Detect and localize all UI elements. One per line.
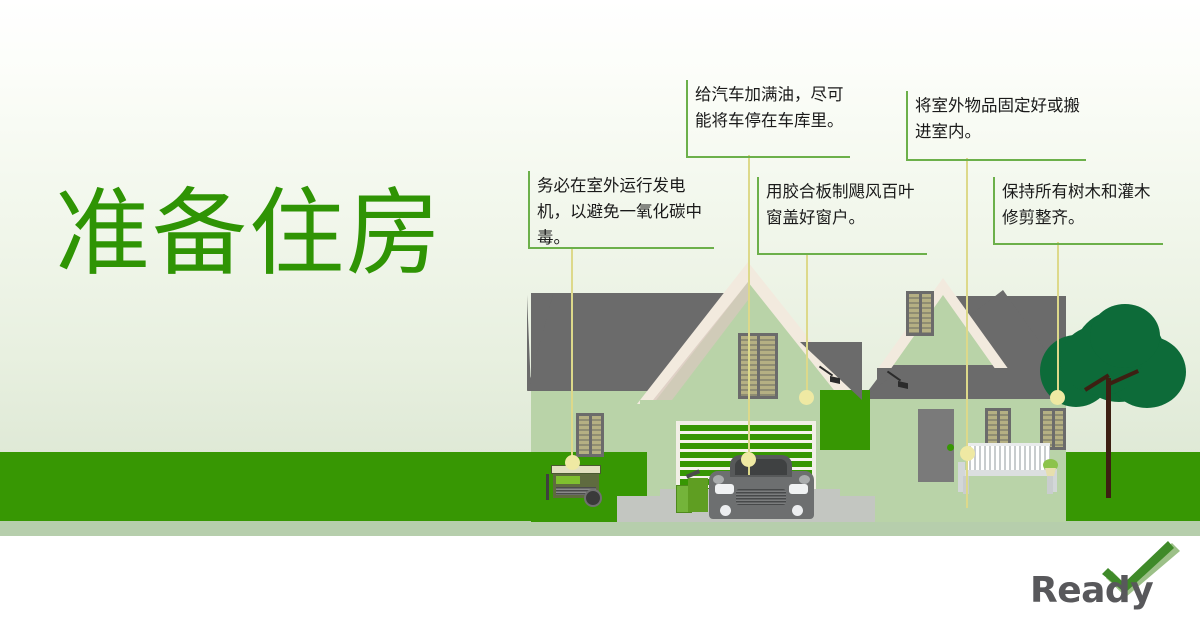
shutter-right-gable [906,291,934,336]
door-knob [947,444,954,451]
callout-generator: 务必在室外运行发电机，以避免一氧化碳中毒。 [528,171,714,249]
car-mirror-left [713,475,724,484]
callout-generator-text: 务必在室外运行发电机，以避免一氧化碳中毒。 [537,173,708,251]
generator-panel [556,476,580,484]
callout-car-fuel: 给汽车加满油，尽可能将车停在车库里。 [686,80,850,158]
leader-line-car [748,155,750,475]
ready-wordmark: Ready [1030,570,1153,611]
shutter-leaf [1055,411,1064,447]
shutter-leaf [988,411,997,447]
page-title: 准备住房 [55,182,443,287]
tree-trunk [1106,378,1111,498]
bench-seat [963,470,1053,476]
shutter-leaf [909,294,919,333]
callout-plywood-shutters-text: 用胶合板制飓风百叶窗盖好窗户。 [766,179,921,231]
leader-dot-trees [1050,390,1065,405]
shutter-leaf [922,294,932,333]
callout-secure-outdoor-items: 将室外物品固定好或搬进室内。 [906,91,1086,161]
callout-plywood-shutters: 用胶合板制飓风百叶窗盖好窗户。 [757,177,927,255]
shutter-leaf [1043,411,1052,447]
car-foglight-right [792,505,803,516]
shutter-leaf [579,416,589,454]
callout-car-fuel-text: 给汽车加满油，尽可能将车停在车库里。 [695,82,844,134]
callout-trim-trees-text: 保持所有树木和灌木修剪整齐。 [1002,179,1157,231]
car-headlight-left [715,484,734,494]
poster-canvas: 准备住房 务必在室外运行发电机，以避免一氧化碳中毒。 给汽车加满油，尽可能将车停… [0,0,1200,630]
car-foglight-left [720,505,731,516]
leader-dot-car [741,452,756,467]
callout-trim-trees: 保持所有树木和灌木修剪整齐。 [993,177,1163,245]
shutter-gable-center [738,333,778,399]
shutter-leaf [592,416,602,454]
leader-dot-generator [565,455,580,470]
bench-leg-right [1047,476,1053,494]
tree-canopy-blob [1090,304,1160,368]
car [705,453,818,522]
generator-handle [546,474,549,500]
leader-line-trees [1057,242,1059,397]
shutter-leaf [760,336,776,396]
generator-wheel [584,489,602,507]
leader-line-generator [571,247,573,462]
callout-secure-outdoor-items-text: 将室外物品固定好或搬进室内。 [915,93,1080,145]
car-headlight-right [789,484,808,494]
leader-line-shutters [806,253,808,398]
leader-dot-outdoor-items [960,446,975,461]
shutter-leaf [1000,411,1009,447]
car-mirror-right [799,475,810,484]
background-walkway [0,521,1200,536]
car-grille [736,489,786,505]
leader-dot-shutters [799,390,814,405]
shutter-left-wall [576,413,604,457]
